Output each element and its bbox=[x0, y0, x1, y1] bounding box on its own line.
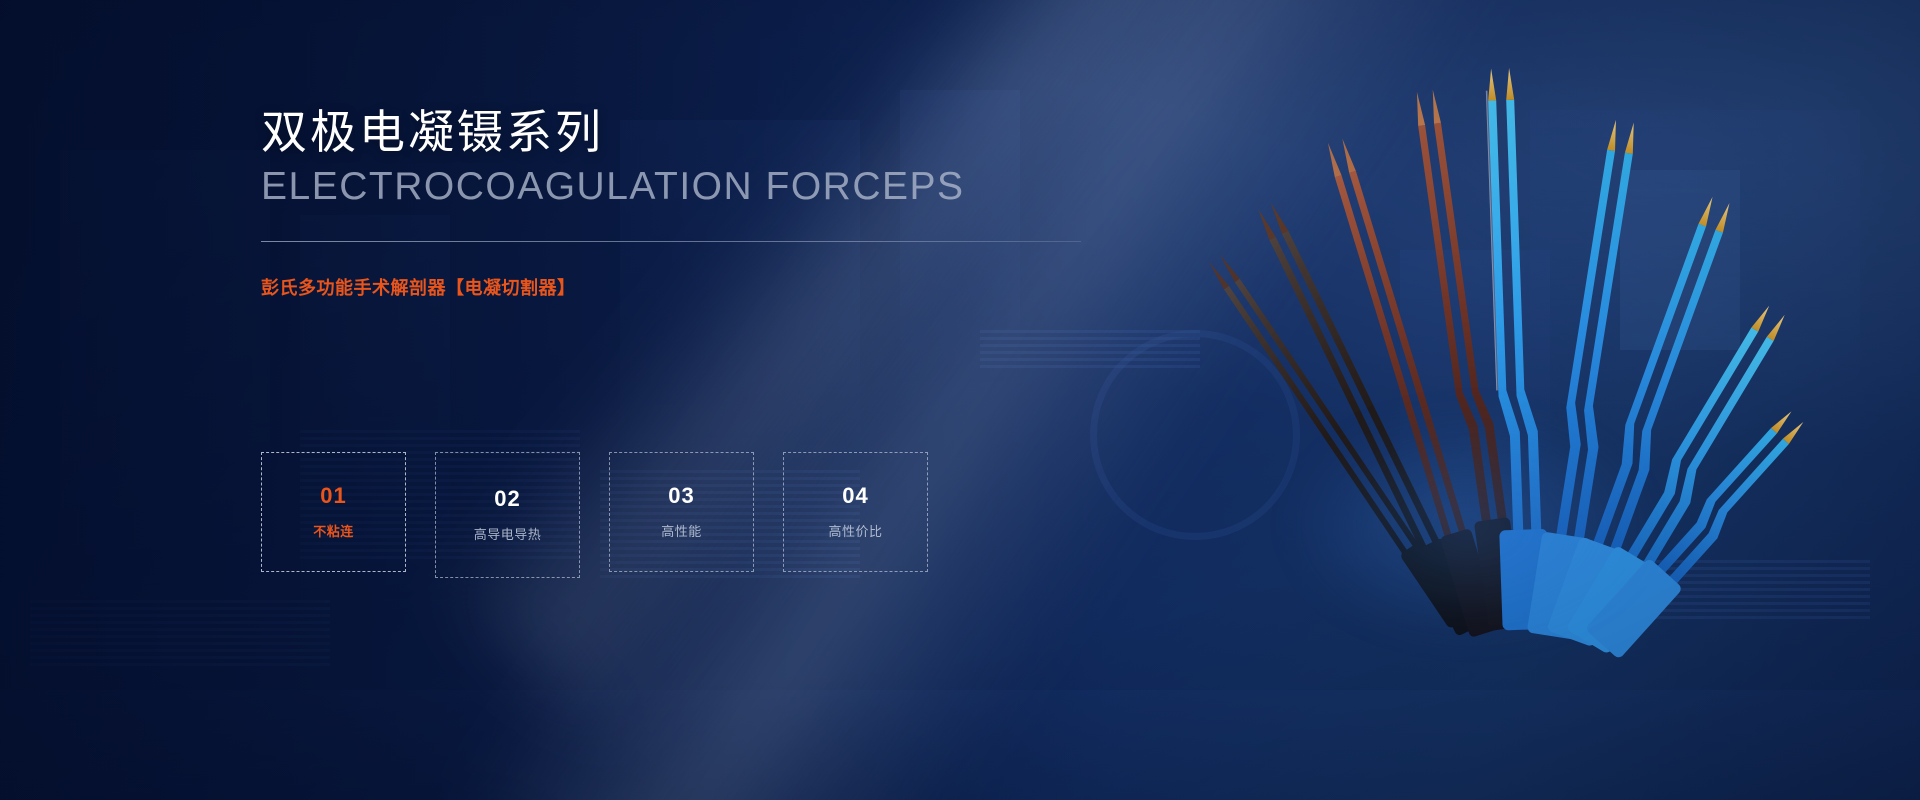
feature-label: 不粘连 bbox=[313, 521, 354, 540]
feature-number: 04 bbox=[842, 485, 868, 507]
feature-label: 高性价比 bbox=[828, 521, 882, 540]
feature-number: 01 bbox=[320, 485, 346, 507]
feature-item-01[interactable]: 01 不粘连 bbox=[261, 452, 406, 572]
forceps-fan-svg bbox=[1090, 60, 1830, 660]
product-tagline: 彭氏多功能手术解剖器【电凝切割器】 bbox=[261, 274, 1141, 300]
page-title: 双极电凝镊系列 bbox=[261, 105, 1141, 159]
feature-item-02[interactable]: 02 高导电导热 bbox=[435, 452, 580, 578]
feature-number: 03 bbox=[668, 485, 694, 507]
feature-label: 高性能 bbox=[661, 521, 702, 540]
feature-list: 01 不粘连 02 高导电导热 03 高性能 04 高性价比 bbox=[261, 452, 928, 578]
feature-item-04[interactable]: 04 高性价比 bbox=[783, 452, 928, 572]
feature-label: 高导电导热 bbox=[474, 524, 542, 543]
forceps-product-image bbox=[1090, 60, 1830, 660]
divider bbox=[261, 241, 1081, 242]
feature-item-03[interactable]: 03 高性能 bbox=[609, 452, 754, 572]
feature-number: 02 bbox=[494, 488, 520, 510]
product-glow bbox=[1210, 360, 1730, 690]
page-subtitle-en: ELECTROCOAGULATION FORCEPS bbox=[261, 165, 1141, 209]
product-banner: 双极电凝镊系列 ELECTROCOAGULATION FORCEPS 彭氏多功能… bbox=[0, 0, 1920, 800]
banner-copy: 双极电凝镊系列 ELECTROCOAGULATION FORCEPS 彭氏多功能… bbox=[261, 105, 1141, 300]
